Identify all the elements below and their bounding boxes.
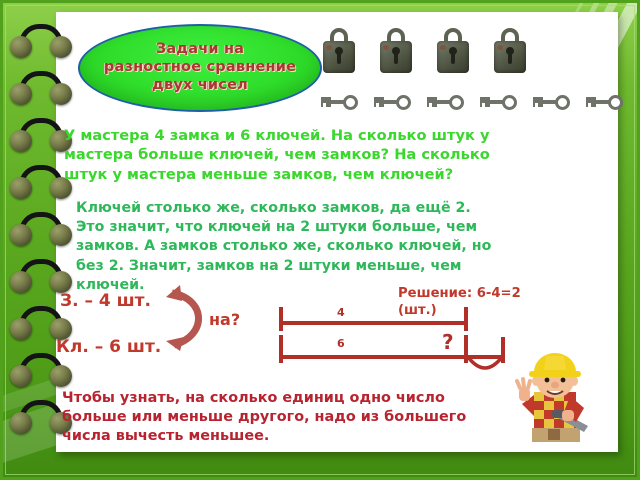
binding-ring (10, 71, 72, 111)
diagram-difference-label: ? (442, 330, 454, 354)
binding-ring-bead-right (50, 36, 72, 58)
binding-ring-bead-left (10, 224, 32, 246)
binding-ring-bead-left (10, 412, 32, 434)
slide-title-oval: Задачи на разностное сравнение двух чисе… (78, 24, 322, 112)
padlocks-group (322, 28, 527, 74)
keys-group (320, 95, 623, 111)
title-line-1: Задачи на (104, 41, 296, 59)
binding-ring-bead-left (10, 318, 32, 340)
conclusion-rule: Чтобы узнать, на сколько единиц одно чис… (62, 389, 492, 446)
binding-ring-bead-left (10, 177, 32, 199)
binding-ring-bead-right (50, 224, 72, 246)
double-arrow-icon (158, 283, 220, 355)
binding-ring-bead-right (50, 365, 72, 387)
binding-ring-bead-right (50, 271, 72, 293)
notation-keys: Кл. – 6 шт. (56, 337, 161, 357)
builder-character (492, 352, 610, 452)
key-icon (479, 95, 517, 111)
slide-canvas: Задачи на разностное сравнение двух чисе… (0, 0, 640, 480)
binding-ring-bead-left (10, 365, 32, 387)
padlock-icon (493, 28, 527, 74)
diagram-bottom-bar-label: 6 (337, 337, 345, 350)
page-title: Задачи на разностное сравнение двух чисе… (104, 41, 296, 94)
notation-locks: З. – 4 шт. (60, 291, 151, 311)
key-icon (585, 95, 623, 111)
padlock-icon (436, 28, 470, 74)
key-icon (320, 95, 358, 111)
binding-ring (10, 24, 72, 64)
binding-ring (10, 212, 72, 252)
binding-ring (10, 353, 72, 393)
binding-ring (10, 118, 72, 158)
title-line-2: разностное сравнение (104, 59, 296, 77)
binding-ring-bead-right (50, 83, 72, 105)
binding-ring (10, 165, 72, 205)
padlock-icon (322, 28, 356, 74)
diagram-top-bar-label: 4 (337, 306, 345, 319)
solution-line-1: Решение: 6-4=2 (398, 286, 578, 303)
binding-ring-bead-left (10, 271, 32, 293)
binding-ring-bead-left (10, 36, 32, 58)
key-icon (532, 95, 570, 111)
binding-ring-bead-left (10, 83, 32, 105)
key-icon (426, 95, 464, 111)
problem-statement: У мастера 4 замка и 6 ключей. На сколько… (64, 126, 494, 184)
key-icon (373, 95, 411, 111)
padlock-icon (379, 28, 413, 74)
bar-model-diagram (278, 305, 508, 375)
reasoning-explanation: Ключей столько же, сколько замков, да ещ… (76, 199, 496, 295)
title-line-3: двух чисел (104, 77, 296, 95)
binding-ring-bead-left (10, 130, 32, 152)
